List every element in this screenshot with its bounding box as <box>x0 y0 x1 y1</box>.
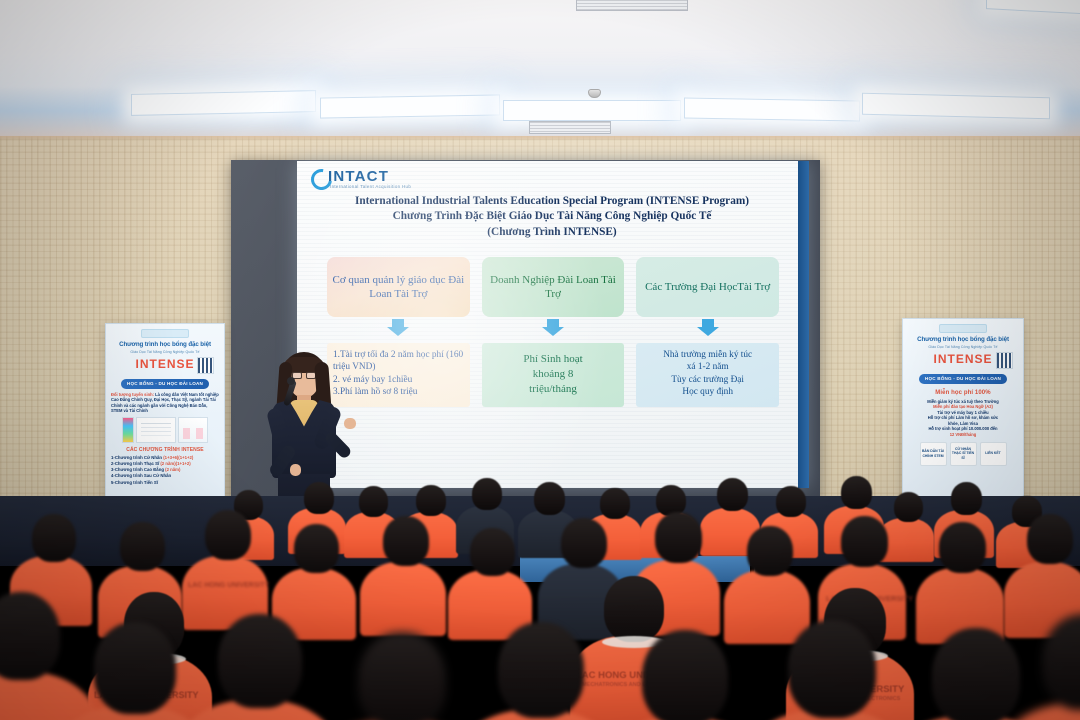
program-card: LIÊN KẾT <box>980 442 1007 466</box>
slide-title-vi: Chương Trình Đặc Biệt Giáo Dục Tài Năng … <box>333 209 771 223</box>
document-image <box>178 417 208 443</box>
banner-benefit-list: Miễn giảm ký túc xá tuỳ theo Trường Miễn… <box>903 396 1023 438</box>
ceiling <box>0 0 1080 142</box>
benefit-line: triệu/tháng <box>488 382 619 397</box>
intact-logo: INTACT International Talent Acquisition … <box>311 167 415 197</box>
microphone-head <box>287 377 295 385</box>
banner-pill: HỌC BỔNG - DU HỌC ĐÀI LOAN <box>919 374 1007 384</box>
certificate-image <box>136 417 176 443</box>
slide-title-en: International Industrial Talents Educati… <box>355 195 749 207</box>
banner-pill: HỌC BỔNG - DU HỌC ĐÀI LOAN <box>121 379 209 389</box>
color-bar-image <box>122 417 134 443</box>
banner-logo <box>141 329 189 338</box>
banner-heading: Chương trình học bổng đặc biệt <box>106 341 224 348</box>
led-panel <box>503 100 681 121</box>
wall-cornice <box>0 136 1080 140</box>
air-vent <box>529 121 611 134</box>
led-panel <box>986 0 1080 15</box>
qr-code-icon <box>197 357 214 374</box>
led-panel <box>320 94 500 118</box>
program-card: BẢN DẪN TÀI CHÍNH STEM <box>920 442 947 466</box>
benefit-line: Nhà trường miễn ký túc <box>642 349 773 361</box>
eyeglasses-icon <box>292 372 316 379</box>
benefit-line: 12 VNĐ/tháng <box>908 432 1018 438</box>
banner-heading: Chương trình học bổng đặc biệt <box>903 336 1023 343</box>
benefit-box-dormitory: Nhà trường miễn ký túc xá 1-2 năm Tùy cá… <box>636 343 779 407</box>
banner-subheading: Giáo Dục Tài Năng Công Nghiệp Quốc Tế <box>106 350 224 354</box>
benefit-line: Phí Sinh hoạt <box>488 352 619 367</box>
funding-box-government: Cơ quan quản lý giáo dục Đài Loan Tài Tr… <box>327 257 470 317</box>
logo-tagline: International Talent Acquisition Hub <box>330 184 411 189</box>
logo-wordmark: INTACT <box>328 168 389 185</box>
banner-body-label: Đối tượng tuyển sinh: <box>111 392 154 397</box>
banner-image-strip <box>106 417 224 443</box>
audience: LAC HONG UNIVERSITY LAC HO <box>0 470 1080 720</box>
banner-brand-row: INTENSE <box>106 357 224 377</box>
funding-sources-row: Cơ quan quản lý giáo dục Đài Loan Tài Tr… <box>327 257 779 317</box>
funding-box-universities: Các Trường Đại HọcTài Trợ <box>636 257 779 317</box>
led-panel <box>862 93 1050 120</box>
program-card: CỬ NHÂN THẠC SĨ TIẾN SĨ <box>950 442 977 466</box>
qr-code-icon <box>996 352 1013 369</box>
slide-title-vi-sub: (Chương Trình INTENSE) <box>333 225 771 239</box>
banner-body: Đối tượng tuyển sinh: Là công dân Việt N… <box>106 389 224 414</box>
led-panel <box>684 97 860 121</box>
conference-room-photo: INTACT International Talent Acquisition … <box>0 0 1080 720</box>
benefit-line: Tùy các trường Đại <box>642 374 773 386</box>
benefit-line: Học quy định <box>642 386 773 398</box>
air-vent <box>576 0 688 11</box>
benefit-box-living-cost: Phí Sinh hoạt khoảng 8 triệu/tháng <box>482 343 625 407</box>
slide-right-accent-bar <box>798 161 809 488</box>
banner-brand-row: INTENSE <box>903 352 1023 372</box>
led-panel <box>131 90 316 116</box>
slide-title: International Industrial Talents Educati… <box>333 194 771 239</box>
hand-right <box>344 418 356 429</box>
projected-slide: INTACT International Talent Acquisition … <box>297 161 809 488</box>
benefit-line: khoảng 8 <box>488 367 619 382</box>
banner-logo <box>939 324 987 333</box>
shirt-text: LAC HONG UNIVERSITY <box>188 582 269 589</box>
banner-card-row: BẢN DẪN TÀI CHÍNH STEM CỬ NHÂN THẠC SĨ T… <box>903 442 1023 466</box>
funding-box-enterprise: Doanh Nghiệp Đài Loan Tài Trợ <box>482 257 625 317</box>
banner-subheading: Giáo Dục Tài Năng Công Nghiệp Quốc Tế <box>903 345 1023 349</box>
benefit-line: xá 1-2 năm <box>642 361 773 373</box>
benefits-row: 1.Tài trợ tối đa 2 năm học phí (160 triệ… <box>327 343 779 407</box>
